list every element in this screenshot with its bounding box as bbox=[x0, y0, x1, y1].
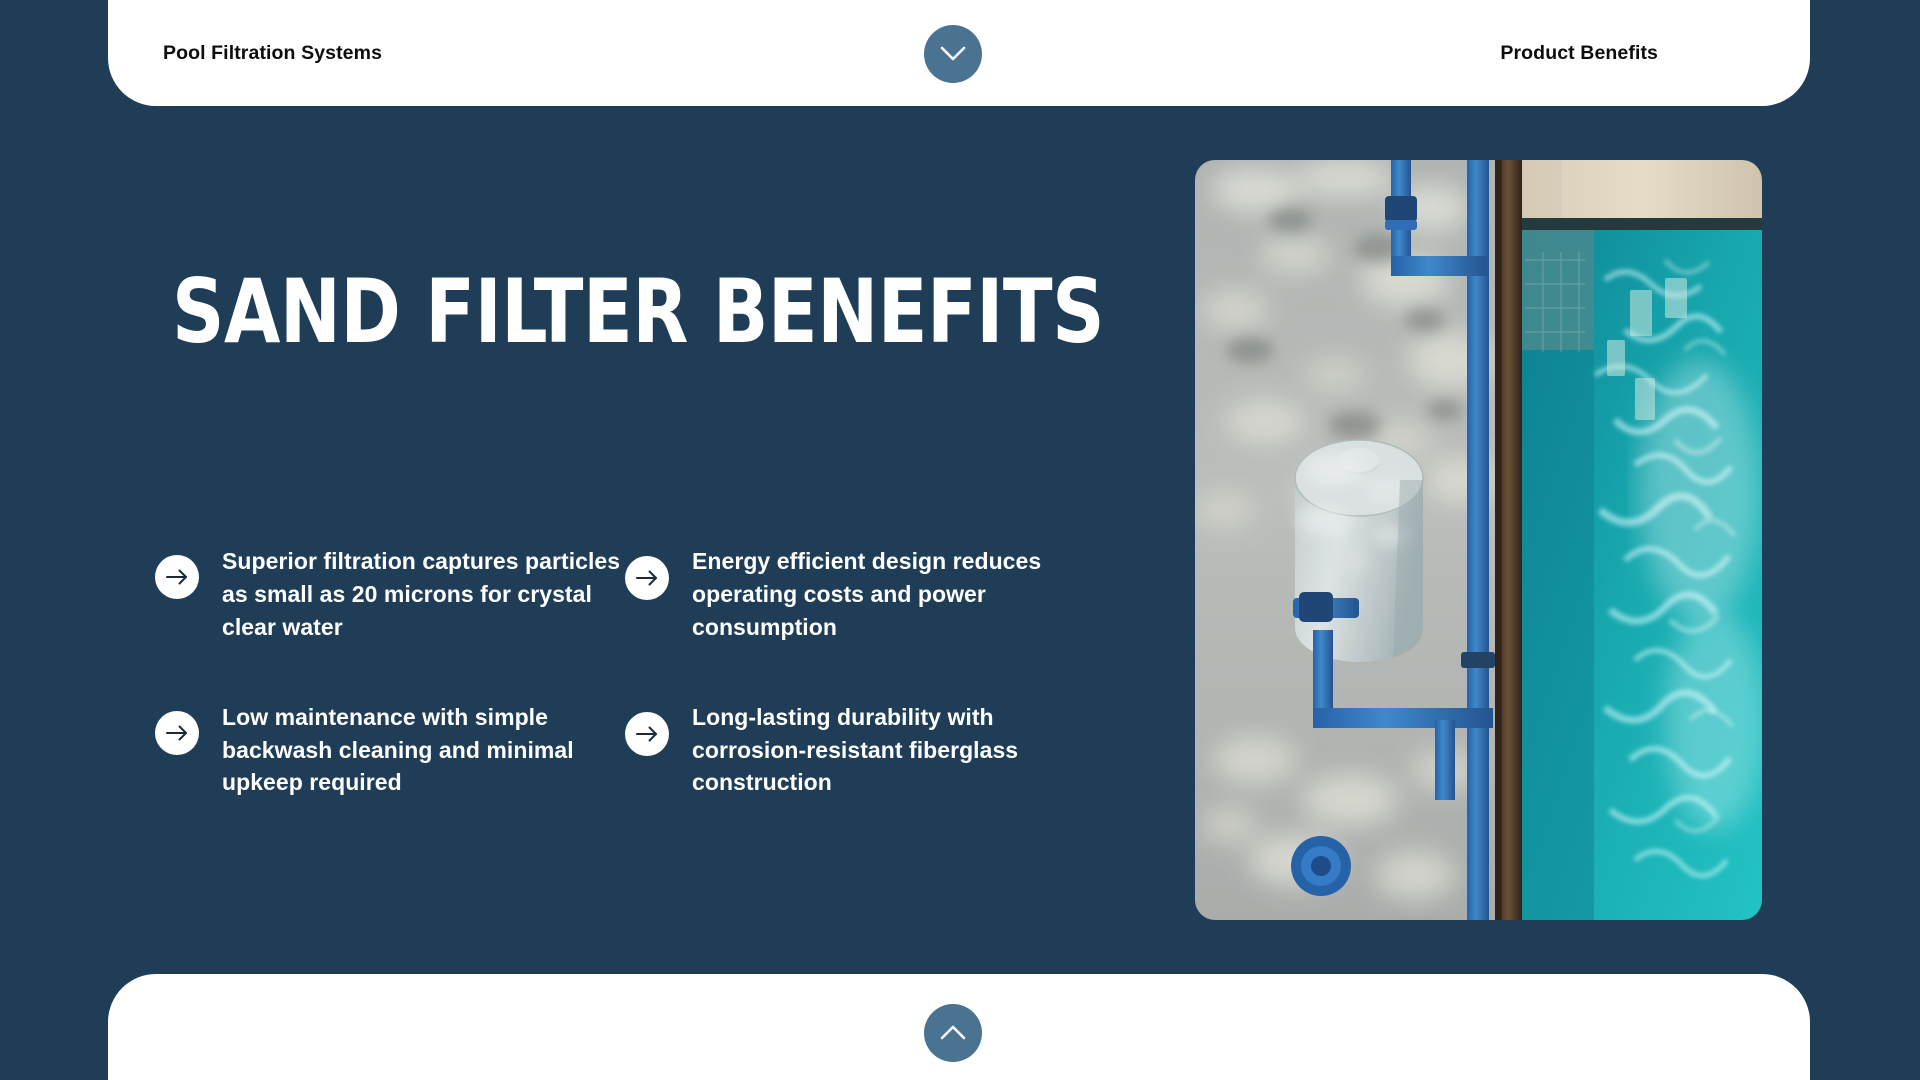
benefit-item-1: Superior filtration captures particles a… bbox=[155, 545, 625, 644]
arrow-right-icon bbox=[625, 712, 669, 756]
benefit-text: Energy efficient design reduces operatin… bbox=[692, 545, 1075, 644]
pool-filter-photo bbox=[1195, 160, 1762, 920]
chevron-down-icon bbox=[940, 46, 966, 62]
benefit-item-2: Energy efficient design reduces operatin… bbox=[625, 545, 1075, 644]
scroll-down-button[interactable] bbox=[924, 25, 982, 83]
benefit-text: Superior filtration captures particles a… bbox=[222, 545, 625, 644]
arrow-right-icon bbox=[155, 555, 199, 599]
arrow-right-icon bbox=[155, 711, 199, 755]
benefits-list: Superior filtration captures particles a… bbox=[155, 545, 1075, 799]
photo-illustration bbox=[1195, 160, 1762, 920]
slide-canvas: Pool Filtration Systems Product Benefits… bbox=[0, 0, 1920, 1080]
nav-item-product-benefits[interactable]: Product Benefits bbox=[1500, 42, 1658, 65]
arrow-right-icon bbox=[625, 556, 669, 600]
benefit-text: Long-lasting durability with corrosion-r… bbox=[692, 701, 1075, 800]
page-title: Sand Filter Benefits bbox=[172, 268, 1104, 356]
brand-label: Pool Filtration Systems bbox=[163, 42, 382, 65]
scroll-up-button[interactable] bbox=[924, 1004, 982, 1062]
benefit-item-4: Long-lasting durability with corrosion-r… bbox=[625, 701, 1075, 800]
benefit-item-3: Low maintenance with simple backwash cle… bbox=[155, 701, 625, 800]
benefit-text: Low maintenance with simple backwash cle… bbox=[222, 701, 625, 800]
chevron-up-icon bbox=[940, 1025, 966, 1041]
